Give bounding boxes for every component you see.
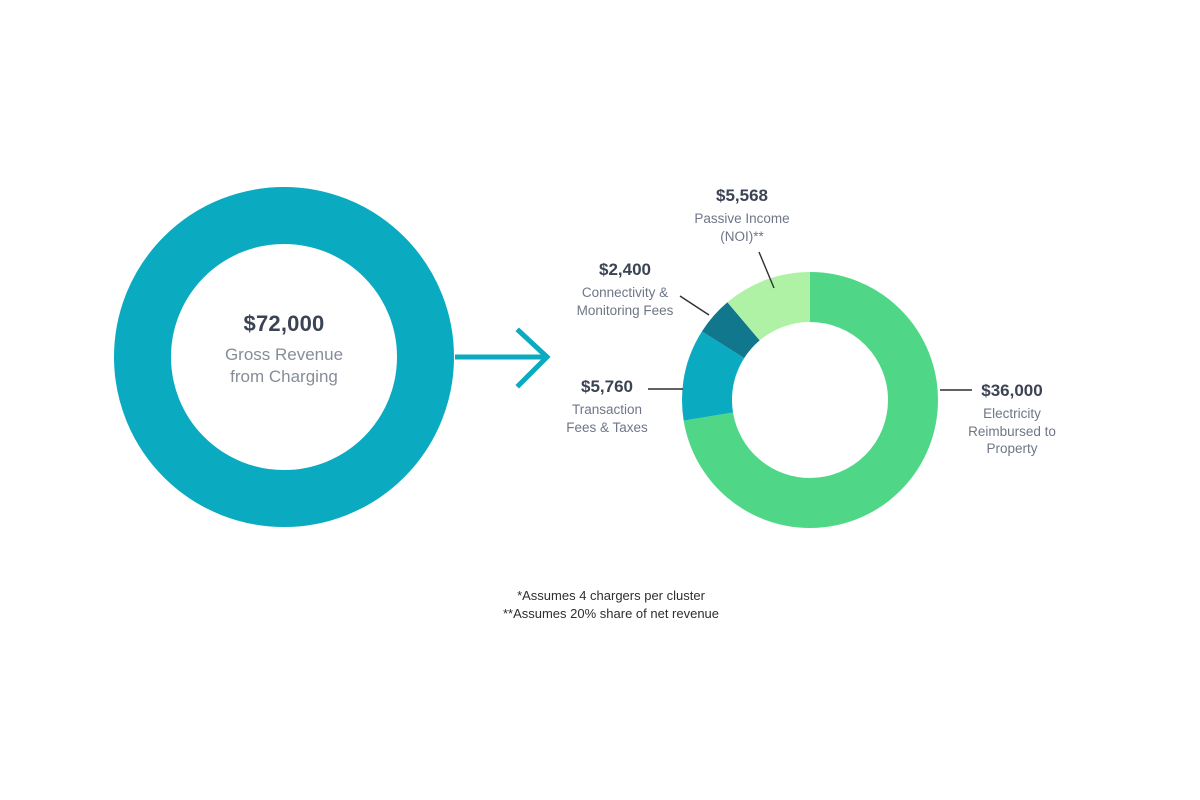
footnote-line-2: **Assumes 20% share of net revenue <box>411 605 811 623</box>
footnote-line-1: *Assumes 4 chargers per cluster <box>411 587 811 605</box>
callout-electricity-amount: $36,000 <box>921 380 1103 402</box>
callout-transaction-fees-desc-line1: Transaction <box>516 401 698 419</box>
callout-connectivity-fees-desc-line1: Connectivity & <box>534 284 716 302</box>
callout-transaction-fees-desc-line2: Fees & Taxes <box>516 419 698 437</box>
gross-revenue-value: $72,000 <box>164 310 404 338</box>
callout-electricity[interactable]: $36,000 Electricity Reimbursed to Proper… <box>921 380 1103 458</box>
callout-electricity-desc-line3: Property <box>921 440 1103 458</box>
callout-passive-income-amount: $5,568 <box>647 185 837 207</box>
callout-connectivity-fees-amount: $2,400 <box>534 259 716 281</box>
callout-electricity-desc-line2: Reimbursed to <box>921 423 1103 441</box>
callout-electricity-desc-line1: Electricity <box>921 405 1103 423</box>
callout-connectivity-fees-desc-line2: Monitoring Fees <box>534 302 716 320</box>
callout-transaction-fees[interactable]: $5,760 Transaction Fees & Taxes <box>516 376 698 436</box>
callout-passive-income-desc-line1: Passive Income <box>647 210 837 228</box>
footnotes: *Assumes 4 chargers per cluster **Assume… <box>411 587 811 624</box>
chart-canvas: $72,000 Gross Revenue from Charging $5,5… <box>0 0 1200 800</box>
gross-revenue-description-line2: from Charging <box>164 366 404 388</box>
callout-passive-income-desc-line2: (NOI)** <box>647 228 837 246</box>
gross-revenue-center-label: $72,000 Gross Revenue from Charging <box>164 310 404 388</box>
callout-connectivity-fees[interactable]: $2,400 Connectivity & Monitoring Fees <box>534 259 716 319</box>
revenue-breakdown-donut <box>707 297 913 503</box>
callout-passive-income[interactable]: $5,568 Passive Income (NOI)** <box>647 185 837 245</box>
gross-revenue-description-line1: Gross Revenue <box>164 344 404 366</box>
callout-transaction-fees-amount: $5,760 <box>516 376 698 398</box>
